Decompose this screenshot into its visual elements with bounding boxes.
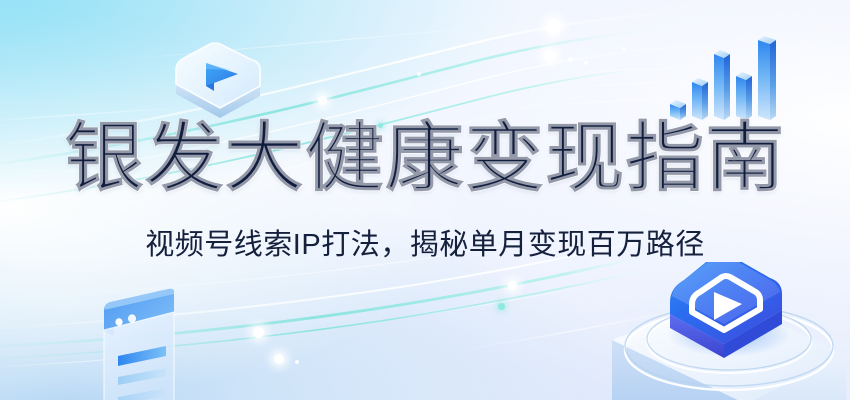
document-window-icon (62, 286, 188, 400)
glow-dot (508, 281, 517, 290)
tiny-dot (622, 47, 626, 51)
bar-chart-icon (664, 26, 790, 126)
pedestal-platform (596, 262, 850, 400)
tiny-dot (417, 72, 421, 76)
play-card-icon (168, 36, 266, 124)
tiny-dot (568, 57, 573, 62)
banner-subtitle: 视频号线索IP打法，揭秘单月变现百万路径 (0, 226, 850, 264)
glow-dot (318, 96, 327, 105)
tiny-dot (295, 360, 299, 364)
glow-dot (544, 50, 556, 62)
banner-title: 银发大健康变现指南 (0, 118, 850, 200)
tiny-dot (584, 61, 588, 65)
glow-dot (274, 354, 284, 364)
promo-banner: 银发大健康变现指南 视频号线索IP打法，揭秘单月变现百万路径 (0, 0, 850, 400)
cyan-dot (498, 303, 505, 310)
glow-dot (253, 327, 264, 338)
glow-dot (546, 19, 561, 34)
